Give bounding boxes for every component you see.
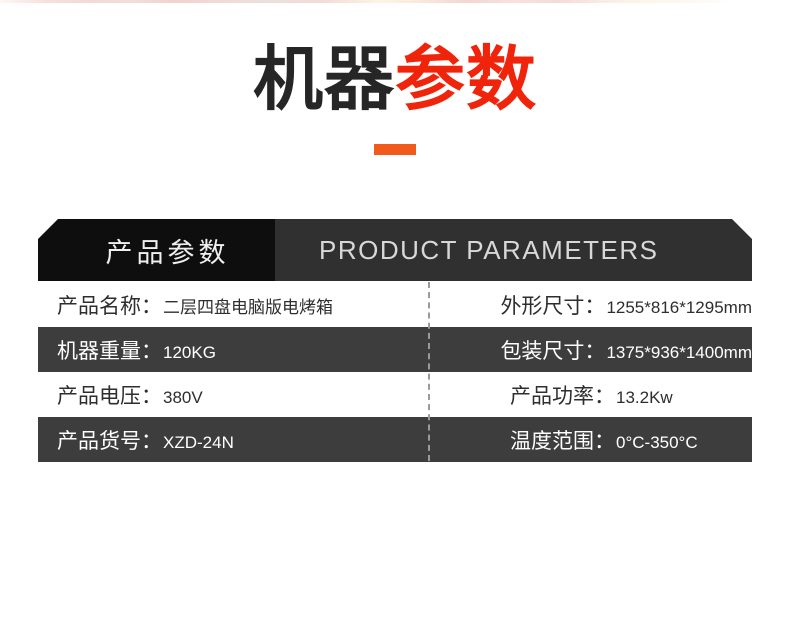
banner-left-section: 产品参数 (38, 219, 275, 281)
page-title-dark-part: 机器 (253, 40, 395, 118)
table-cell-right: 包装尺寸： 1375*936*1400mm (433, 335, 752, 365)
table-cell-left: 产品货号： XZD-24N (38, 425, 443, 455)
top-color-strip (0, 0, 732, 3)
param-value: 1255*816*1295mm (606, 298, 752, 318)
param-value: 380V (163, 388, 203, 408)
table-cell-right: 温度范围： 0°C-350°C (443, 425, 752, 455)
param-value: XZD-24N (163, 433, 234, 453)
param-label: 产品名称： (57, 290, 162, 320)
param-label: 包装尺寸： (500, 335, 605, 365)
param-label: 外形尺寸： (500, 290, 605, 320)
product-parameters-banner: 产品参数 PRODUCT PARAMETERS (38, 219, 752, 281)
table-cell-right: 外形尺寸： 1255*816*1295mm (433, 290, 752, 320)
table-row: 产品名称： 二层四盘电脑版电烤箱 外形尺寸： 1255*816*1295mm (38, 282, 752, 327)
table-cell-left: 机器重量： 120KG (38, 335, 433, 365)
param-label: 温度范围： (510, 425, 615, 455)
page-title-block: 机器参数 (0, 44, 790, 155)
param-value: 1375*936*1400mm (606, 343, 752, 363)
banner-left-label: 产品参数 (84, 231, 230, 270)
param-label: 产品功率： (510, 380, 615, 410)
page-title-accent-part: 参数 (395, 40, 537, 118)
param-label: 机器重量： (57, 335, 162, 365)
table-cell-right: 产品功率： 13.2Kw (443, 380, 752, 410)
banner-right-label: PRODUCT PARAMETERS (275, 235, 659, 266)
table-cell-left: 产品电压： 380V (38, 380, 443, 410)
parameters-table: 产品名称： 二层四盘电脑版电烤箱 外形尺寸： 1255*816*1295mm 机… (38, 282, 752, 462)
param-value: 0°C-350°C (616, 433, 698, 453)
table-cell-left: 产品名称： 二层四盘电脑版电烤箱 (38, 290, 433, 320)
param-value: 120KG (163, 343, 216, 363)
table-row: 产品货号： XZD-24N 温度范围： 0°C-350°C (38, 417, 752, 462)
param-label: 产品货号： (57, 425, 162, 455)
param-label: 产品电压： (57, 380, 162, 410)
title-underline-bar (374, 144, 416, 155)
page-title: 机器参数 (0, 44, 790, 114)
param-value: 13.2Kw (616, 388, 673, 408)
table-row: 机器重量： 120KG 包装尺寸： 1375*936*1400mm (38, 327, 752, 372)
banner-right-section: PRODUCT PARAMETERS (275, 219, 752, 281)
table-row: 产品电压： 380V 产品功率： 13.2Kw (38, 372, 752, 417)
param-value: 二层四盘电脑版电烤箱 (163, 293, 333, 318)
